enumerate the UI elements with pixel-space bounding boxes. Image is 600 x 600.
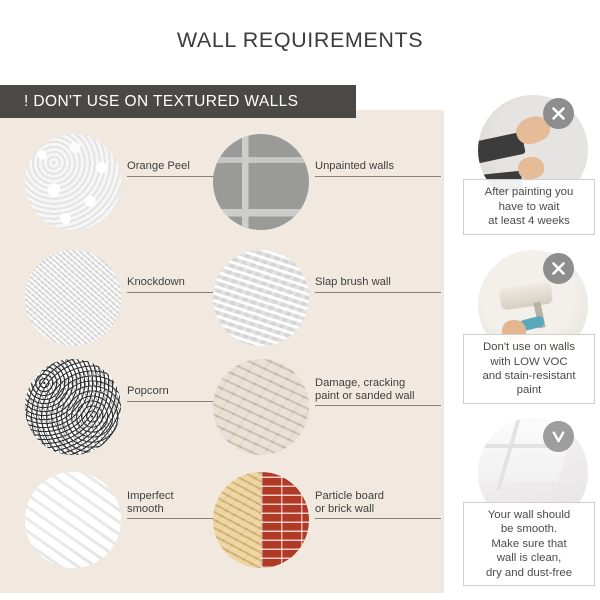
- requirement-card: After painting you have to wait at least…: [455, 95, 595, 240]
- card-text: Don't use on walls with LOW VOC and stai…: [482, 340, 575, 398]
- check-icon: [543, 421, 574, 452]
- page-title: WALL REQUIREMENTS: [0, 28, 600, 53]
- texture-label-block: Slap brush wall: [315, 276, 443, 293]
- texture-label-block: Unpainted walls: [315, 160, 443, 177]
- orange-peel-texture-swatch: [25, 134, 121, 230]
- cross-icon: [543, 253, 574, 284]
- texture-label: Slap brush wall: [315, 276, 443, 289]
- texture-label-block: Particle board or brick wall: [315, 490, 443, 519]
- cross-icon: [543, 98, 574, 129]
- card-text: Your wall should be smooth. Make sure th…: [486, 508, 572, 580]
- label-underline: [315, 518, 441, 519]
- brick-wall-half: [261, 472, 309, 568]
- requirement-card: Your wall should be smooth. Make sure th…: [455, 418, 595, 590]
- texture-label: Damage, cracking paint or sanded wall: [315, 377, 443, 402]
- damaged-wall-texture-swatch: [213, 359, 309, 455]
- particle-board-half: [213, 472, 261, 568]
- texture-label: Particle board or brick wall: [315, 490, 443, 515]
- card-text: After painting you have to wait at least…: [485, 185, 574, 228]
- texture-label-block: Damage, cracking paint or sanded wall: [315, 377, 443, 406]
- imperfect-smooth-texture-swatch: [25, 472, 121, 568]
- label-underline: [315, 405, 441, 406]
- infographic-page: WALL REQUIREMENTS ! DON'T USE ON TEXTURE…: [0, 0, 600, 600]
- popcorn-texture-swatch: [25, 359, 121, 455]
- label-underline: [315, 292, 441, 293]
- warning-banner-label: ! DON'T USE ON TEXTURED WALLS: [0, 93, 298, 111]
- card-text-box: Your wall should be smooth. Make sure th…: [463, 502, 595, 586]
- card-text-box: Don't use on walls with LOW VOC and stai…: [463, 334, 595, 404]
- knockdown-texture-swatch: [25, 250, 121, 346]
- texture-grid: Orange Peel Unpainted walls Knockdown Sl…: [0, 110, 444, 593]
- texture-label: Unpainted walls: [315, 160, 443, 173]
- card-text-box: After painting you have to wait at least…: [463, 179, 595, 235]
- requirement-card: Don't use on walls with LOW VOC and stai…: [455, 250, 595, 408]
- unpainted-wall-texture-swatch: [213, 134, 309, 230]
- particle-board-brick-texture-swatch: [213, 472, 309, 568]
- label-underline: [315, 176, 441, 177]
- slap-brush-texture-swatch: [213, 250, 309, 346]
